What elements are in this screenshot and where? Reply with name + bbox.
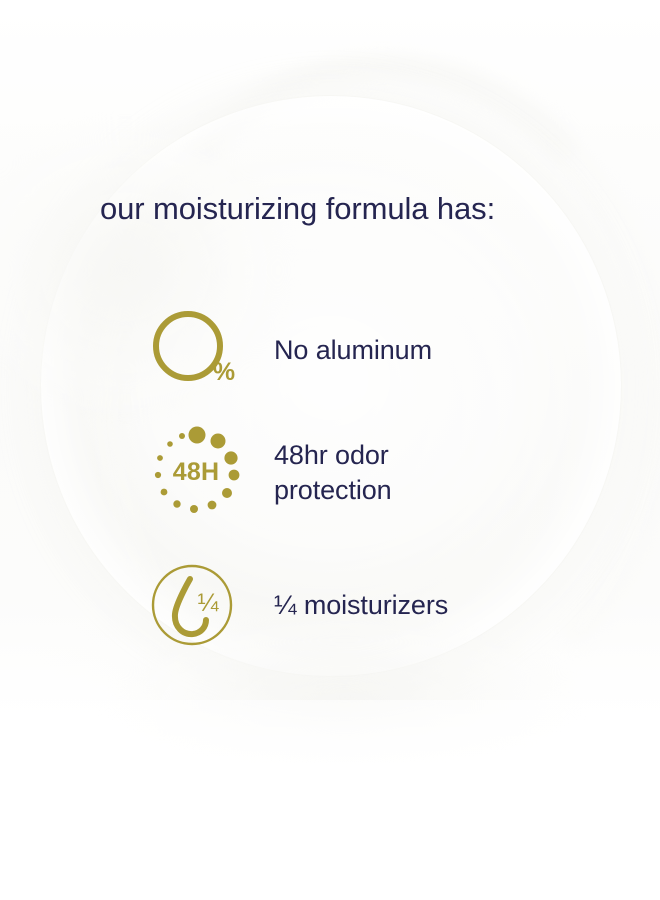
- page-title: our moisturizing formula has:: [100, 189, 495, 229]
- 48h-icon-label: 48H: [173, 458, 219, 486]
- list-item: % No aluminum: [140, 300, 580, 400]
- product-benefits-panel: our moisturizing formula has: % No alumi…: [0, 0, 660, 900]
- list-item-label: 48hr odor protection: [274, 438, 392, 508]
- list-item: ¼ ¼ moisturizers: [140, 555, 580, 655]
- benefit-icon-slot: %: [140, 300, 252, 400]
- list-item: 48H 48hr odor protection: [140, 415, 580, 530]
- zero-percent-icon-label: %: [213, 358, 235, 386]
- 48h-dot-ring-icon: 48H: [142, 417, 252, 527]
- zero-percent-icon: %: [144, 306, 252, 394]
- quarter-icon-label: ¼: [198, 589, 220, 617]
- benefit-icon-slot: ¼: [140, 555, 252, 655]
- list-item-label: ¼ moisturizers: [274, 588, 448, 623]
- quarter-moisturizer-droplet-icon: ¼: [146, 559, 242, 651]
- list-item-label: No aluminum: [274, 333, 432, 368]
- benefit-icon-slot: 48H: [140, 415, 252, 530]
